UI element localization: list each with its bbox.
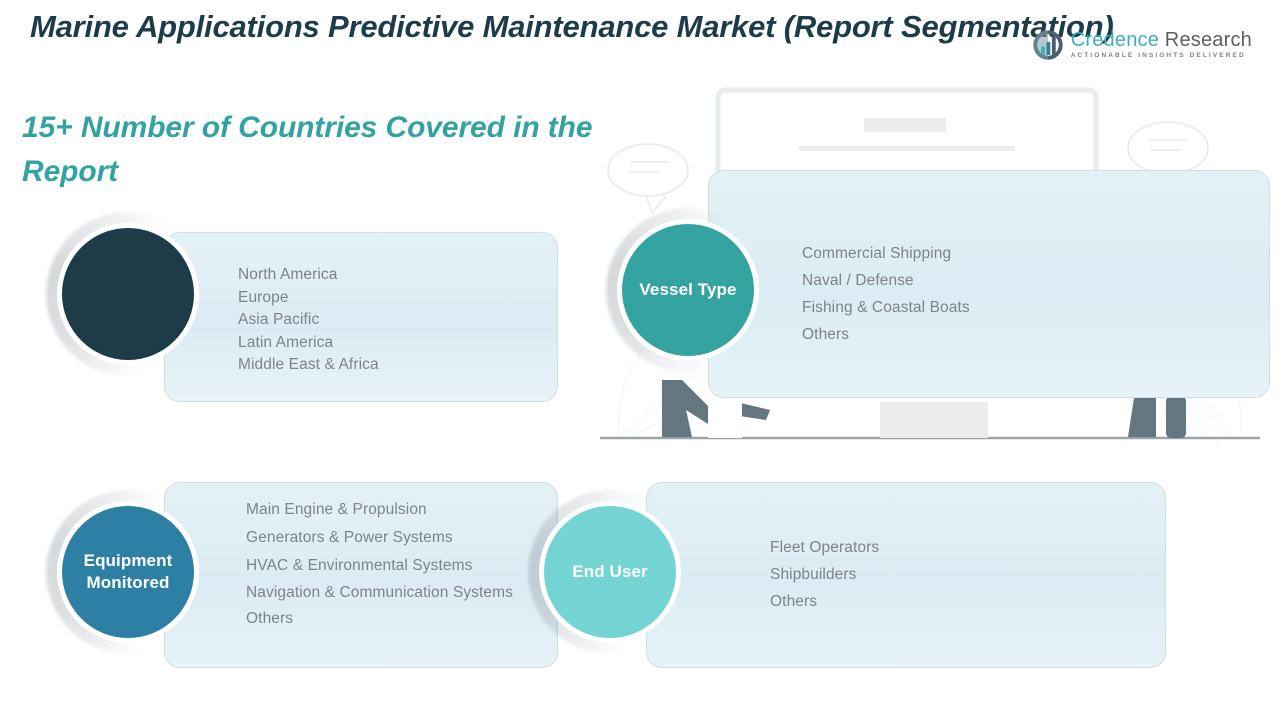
list-item: Others: [246, 605, 552, 633]
page-title: Marine Applications Predictive Maintenan…: [30, 4, 1130, 50]
segment-item-list: Main Engine & Propulsion Generators & Po…: [246, 496, 552, 633]
list-item: Fleet Operators: [770, 534, 1130, 561]
segment-item-list: North America Europe Asia Pacific Latin …: [238, 264, 538, 377]
list-item: Main Engine & Propulsion: [246, 496, 552, 524]
logo-name-primary: Credence: [1071, 29, 1159, 51]
list-item: Middle East & Africa: [238, 354, 538, 377]
segment-circle-label: Equipment Monitored: [62, 506, 194, 638]
list-item: Europe: [238, 287, 538, 310]
segment-circle-label: Vessel Type: [622, 224, 754, 356]
logo-text: Credence Research Actionable Insights De…: [1071, 30, 1252, 60]
list-item: Navigation & Communication Systems: [246, 582, 552, 603]
segment-circle[interactable]: Equipment Monitored: [46, 490, 210, 654]
segment-circle[interactable]: Vessel Type: [606, 208, 770, 372]
segment-item-list: Commercial Shipping Naval / Defense Fish…: [802, 240, 1202, 348]
list-item: Shipbuilders: [770, 561, 1130, 588]
segment-circle-label: End User: [544, 506, 676, 638]
logo-name: Credence Research: [1071, 30, 1252, 50]
list-item: Generators & Power Systems: [246, 524, 552, 552]
list-item: Commercial Shipping: [802, 240, 1202, 267]
segment-circle[interactable]: Regional: [46, 212, 210, 376]
list-item: Others: [770, 588, 1130, 615]
bar-chart-circle-icon: [1031, 28, 1065, 62]
logo-tagline: Actionable Insights Delivered: [1071, 53, 1252, 60]
segment-item-list: Fleet Operators Shipbuilders Others: [770, 534, 1130, 615]
logo-name-secondary: Research: [1159, 29, 1252, 51]
list-item: HVAC & Environmental Systems: [246, 552, 552, 580]
segment-circle[interactable]: End User: [528, 490, 692, 654]
list-item: Asia Pacific: [238, 309, 538, 332]
page-subtitle: 15+ Number of Countries Covered in the R…: [22, 106, 642, 194]
brand-logo[interactable]: Credence Research Actionable Insights De…: [1031, 28, 1252, 62]
segment-circle-label: Regional: [62, 228, 194, 360]
list-item: Others: [802, 321, 1202, 348]
list-item: Naval / Defense: [802, 267, 1202, 294]
list-item: North America: [238, 264, 538, 287]
list-item: Fishing & Coastal Boats: [802, 294, 1202, 321]
list-item: Latin America: [238, 332, 538, 355]
